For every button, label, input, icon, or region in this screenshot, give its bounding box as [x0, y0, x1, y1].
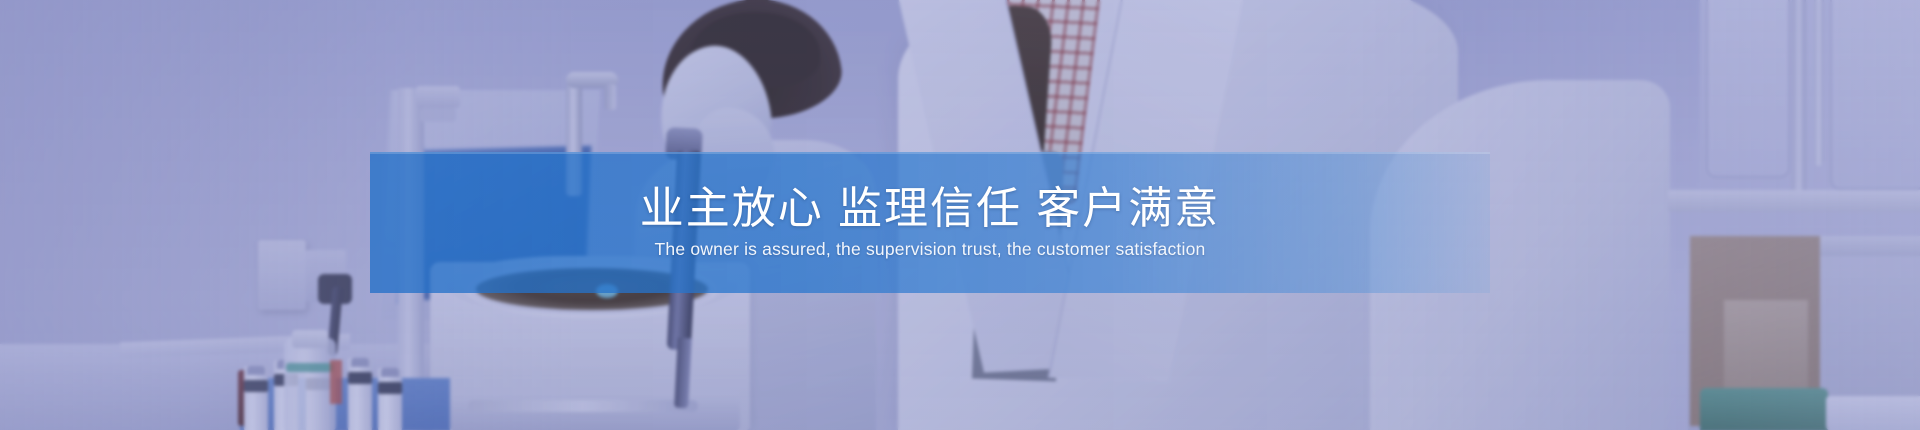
banner-headline: 业主放心 监理信任 客户满意	[640, 185, 1220, 233]
hero-banner: 业主放心 监理信任 客户满意 The owner is assured, the…	[0, 0, 1920, 430]
banner-subheadline: The owner is assured, the supervision tr…	[655, 239, 1206, 260]
caption-text-group: 业主放心 监理信任 客户满意 The owner is assured, the…	[370, 152, 1490, 293]
